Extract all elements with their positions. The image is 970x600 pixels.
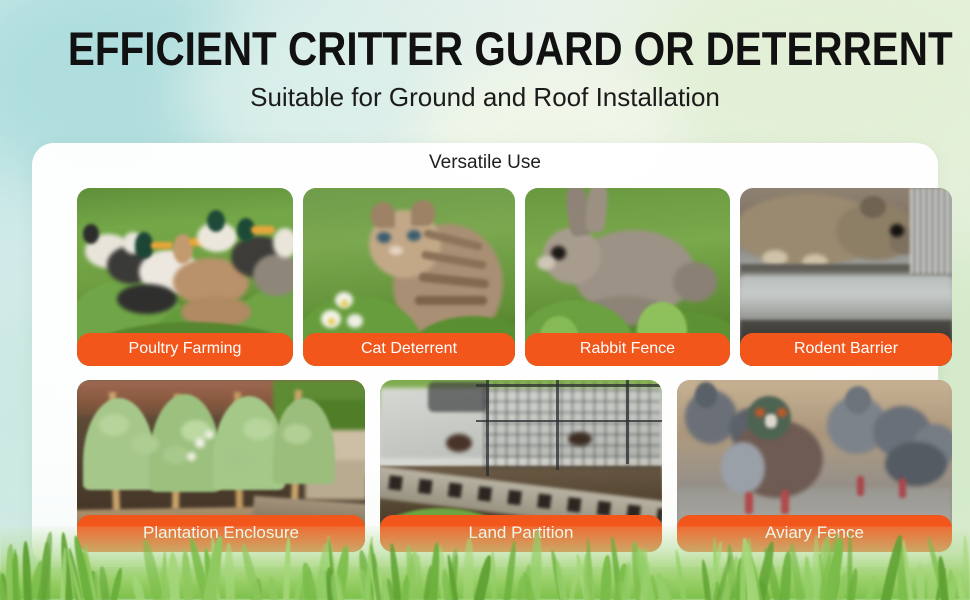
use-case-card[interactable]: Rabbit Fence	[525, 188, 730, 366]
card-label: Cat Deterrent	[303, 333, 515, 366]
banner-header: EFFICIENT CRITTER GUARD OR DETERRENT Sui…	[0, 0, 970, 113]
product-banner: EFFICIENT CRITTER GUARD OR DETERRENT Sui…	[0, 0, 970, 600]
section-heading: Versatile Use	[32, 151, 938, 175]
use-case-card[interactable]: Rodent Barrier	[740, 188, 952, 366]
use-case-card[interactable]: Cat Deterrent	[303, 188, 515, 366]
grass-blade	[41, 542, 51, 600]
use-case-card[interactable]: Poultry Farming	[77, 188, 293, 366]
page-subtitle: Suitable for Ground and Roof Installatio…	[0, 75, 970, 113]
grass-blade	[463, 538, 474, 600]
versatile-use-panel: Versatile Use	[32, 143, 938, 567]
card-label: Rodent Barrier	[740, 333, 952, 366]
card-row-1: Poultry Farming	[32, 188, 938, 366]
page-title: EFFICIENT CRITTER GUARD OR DETERRENT	[68, 0, 902, 75]
card-label: Rabbit Fence	[525, 333, 730, 366]
grass-footer	[0, 526, 970, 600]
card-label: Poultry Farming	[77, 333, 293, 366]
